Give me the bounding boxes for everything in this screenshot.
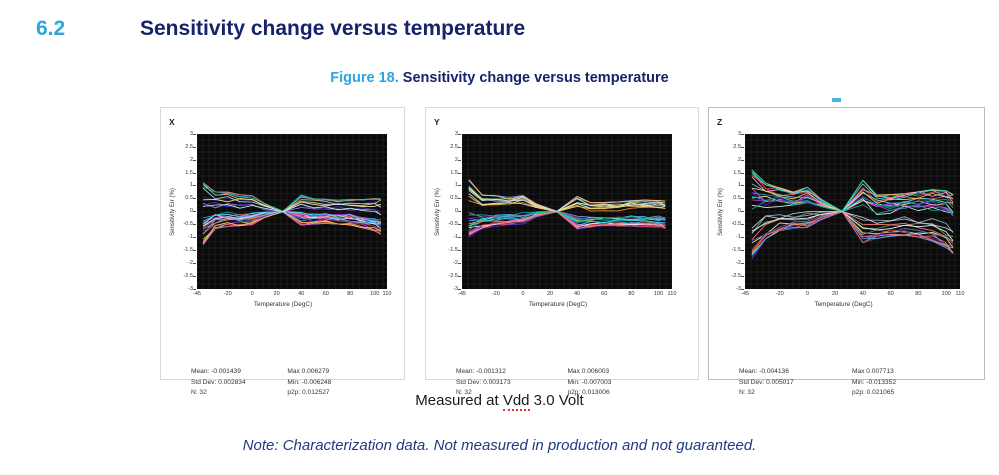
y-axis-title: Sensitivity Err (%) — [718, 152, 724, 272]
y-tick-label: -3 — [434, 286, 458, 292]
plot-canvas — [745, 134, 960, 289]
stat-stddev-z: Std Dev: 0.005017 — [739, 378, 794, 389]
page-title: Sensitivity change versus temperature — [140, 17, 525, 41]
stat-min-y: Min: -0.007003 — [567, 378, 611, 389]
chart-panel-z: Z 32.521.510.50-0.5-1-1.5-2-2.5-3Sensiti… — [708, 107, 985, 380]
stat-stddev-x: Std Dev: 0.002834 — [191, 378, 246, 389]
x-tick-label: -20 — [492, 291, 500, 297]
x-tick-label: 110 — [383, 291, 392, 297]
stray-highlight-mark — [832, 98, 841, 102]
stat-stddev-y: Std Dev: 0.003173 — [456, 378, 511, 389]
x-tick-label: 60 — [323, 291, 329, 297]
x-tick-label: 0 — [806, 291, 809, 297]
stat-max-z: Max 0.007713 — [852, 367, 896, 378]
x-tick-label: -20 — [224, 291, 232, 297]
x-tick-label: 20 — [274, 291, 280, 297]
y-tick-label: 3 — [717, 131, 741, 137]
x-axis-title: Temperature (DegC) — [709, 301, 960, 308]
x-tick-label: 0 — [521, 291, 524, 297]
figure-caption: Figure 18. Sensitivity change versus tem… — [0, 70, 999, 86]
x-tick-label: 40 — [860, 291, 866, 297]
x-tick-label: 110 — [668, 291, 677, 297]
measured-suffix: 3.0 Volt — [530, 392, 584, 409]
y-tick-label: -2.5 — [434, 273, 458, 279]
y-tick-label: 2.5 — [169, 144, 193, 150]
x-tick-label: 100 — [654, 291, 663, 297]
y-tick-label: 3 — [169, 131, 193, 137]
x-tick-label: 80 — [915, 291, 921, 297]
x-tick-label: -45 — [741, 291, 749, 297]
plot-area-x: 32.521.510.50-0.5-1-1.5-2-2.5-3Sensitivi… — [161, 128, 404, 323]
plot-area-z: 32.521.510.50-0.5-1-1.5-2-2.5-3Sensitivi… — [709, 128, 984, 323]
x-tick-label: 80 — [347, 291, 353, 297]
plot-canvas — [197, 134, 387, 289]
panel-axis-label-y: Y — [434, 117, 440, 127]
stat-mean-z: Mean: -0.004136 — [739, 367, 794, 378]
x-tick-label: 100 — [370, 291, 379, 297]
measured-vdd-token: Vdd — [503, 392, 530, 411]
y-tick-label: -3 — [717, 286, 741, 292]
data-series-line — [752, 211, 953, 251]
stat-mean-x: Mean: -0.001439 — [191, 367, 246, 378]
x-tick-label: -45 — [458, 291, 466, 297]
y-tick-label: -3 — [169, 286, 193, 292]
measured-condition-note: Measured at Vdd 3.0 Volt — [0, 392, 999, 409]
y-axis-title: Sensitivity Err (%) — [435, 152, 441, 272]
stat-mean-y: Mean: -0.001312 — [456, 367, 511, 378]
y-tick-label: -2.5 — [169, 273, 193, 279]
x-axis-title: Temperature (DegC) — [161, 301, 387, 308]
chart-panel-y: Y 32.521.510.50-0.5-1-1.5-2-2.5-3Sensiti… — [425, 107, 699, 380]
chart-panel-x: X 32.521.510.50-0.5-1-1.5-2-2.5-3Sensiti… — [160, 107, 405, 380]
measured-prefix: Measured at — [415, 392, 503, 409]
plot-area-y: 32.521.510.50-0.5-1-1.5-2-2.5-3Sensitivi… — [426, 128, 698, 323]
x-tick-label: 20 — [832, 291, 838, 297]
x-tick-label: 0 — [251, 291, 254, 297]
figure-label: Figure 18. — [330, 70, 399, 86]
y-tick-label: 2.5 — [717, 144, 741, 150]
x-tick-label: 60 — [888, 291, 894, 297]
disclaimer-note: Note: Characterization data. Not measure… — [0, 437, 999, 454]
x-tick-label: 110 — [956, 291, 965, 297]
plot-canvas — [462, 134, 672, 289]
y-tick-label: 3 — [434, 131, 458, 137]
x-tick-label: 40 — [574, 291, 580, 297]
y-axis-title: Sensitivity Err (%) — [170, 152, 176, 272]
x-tick-label: -20 — [776, 291, 784, 297]
stat-min-x: Min: -0.006248 — [287, 378, 331, 389]
x-tick-label: 60 — [601, 291, 607, 297]
panel-axis-label-x: X — [169, 117, 175, 127]
figure-title: Sensitivity change versus temperature — [403, 70, 669, 86]
y-tick-label: 2.5 — [434, 144, 458, 150]
stat-max-x: Max 0.006279 — [287, 367, 331, 378]
x-tick-label: 20 — [547, 291, 553, 297]
section-number: 6.2 — [36, 17, 65, 41]
x-axis-title: Temperature (DegC) — [426, 301, 672, 308]
x-tick-label: -45 — [193, 291, 201, 297]
x-tick-label: 80 — [628, 291, 634, 297]
x-tick-label: 40 — [298, 291, 304, 297]
stat-min-z: Min: -0.013352 — [852, 378, 896, 389]
stat-max-y: Max 0.006003 — [567, 367, 611, 378]
y-tick-label: -2.5 — [717, 273, 741, 279]
panel-axis-label-z: Z — [717, 117, 722, 127]
x-tick-label: 100 — [941, 291, 950, 297]
